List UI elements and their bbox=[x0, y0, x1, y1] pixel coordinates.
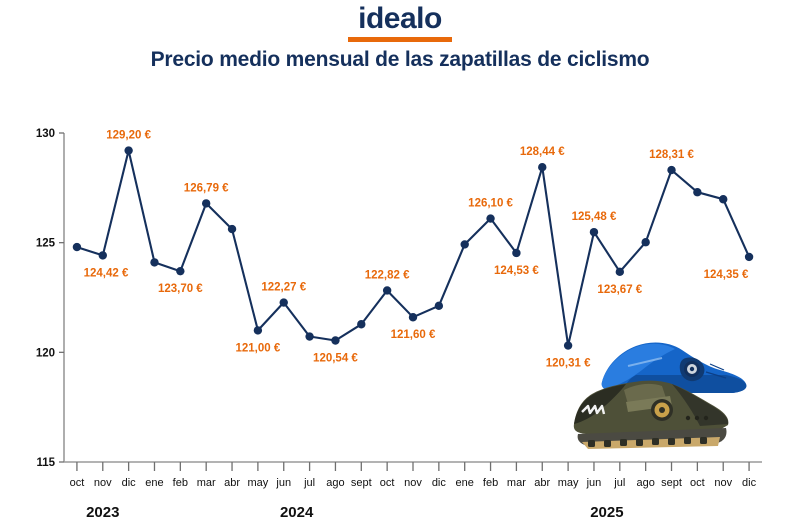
x-tick-label: dic bbox=[742, 477, 757, 489]
x-tick-label: ago bbox=[326, 477, 344, 489]
x-tick-label: jun bbox=[586, 477, 602, 489]
data-point-label: 124,53 € bbox=[494, 265, 539, 277]
data-point[interactable] bbox=[486, 214, 494, 222]
x-tick-label: ene bbox=[145, 477, 163, 489]
data-point-label: 121,60 € bbox=[391, 329, 436, 341]
x-tick-label: nov bbox=[404, 477, 422, 489]
x-tick-label: dic bbox=[432, 477, 447, 489]
data-point[interactable] bbox=[745, 253, 753, 261]
x-tick-label: sept bbox=[661, 477, 682, 489]
x-tick-label: abr bbox=[534, 477, 550, 489]
data-point-label: 128,31 € bbox=[649, 149, 694, 161]
x-tick-label: oct bbox=[690, 477, 705, 489]
data-point[interactable] bbox=[461, 240, 469, 248]
data-labels: 124,42 €129,20 €123,70 €126,79 €121,00 €… bbox=[84, 130, 749, 370]
x-tick-label: ago bbox=[636, 477, 654, 489]
data-point[interactable] bbox=[512, 249, 520, 257]
y-tick-label: 130 bbox=[36, 128, 55, 140]
data-point[interactable] bbox=[357, 320, 365, 328]
data-point[interactable] bbox=[305, 332, 313, 340]
data-point-label: 120,54 € bbox=[313, 352, 358, 364]
x-tick-label: abr bbox=[224, 477, 240, 489]
data-point-label: 123,67 € bbox=[597, 284, 642, 296]
data-point[interactable] bbox=[538, 163, 546, 171]
x-tick-label: may bbox=[247, 477, 268, 489]
x-tick-label: jul bbox=[303, 477, 315, 489]
data-point[interactable] bbox=[73, 243, 81, 251]
data-point-label: 124,35 € bbox=[704, 269, 749, 281]
data-point[interactable] bbox=[202, 199, 210, 207]
x-tick-label: oct bbox=[70, 477, 85, 489]
x-tick-label: may bbox=[558, 477, 579, 489]
data-point[interactable] bbox=[564, 341, 572, 349]
x-tick-label: feb bbox=[483, 477, 498, 489]
x-tick-label: sept bbox=[351, 477, 372, 489]
x-axis: octnovdicenefebmarabrmayjunjulagoseptoct… bbox=[64, 462, 762, 489]
data-point[interactable] bbox=[254, 326, 262, 334]
x-tick-label: feb bbox=[173, 477, 188, 489]
x-tick-label: ene bbox=[456, 477, 474, 489]
data-point-label: 125,48 € bbox=[572, 211, 617, 223]
data-point-label: 121,00 € bbox=[236, 342, 281, 354]
data-point[interactable] bbox=[719, 195, 727, 203]
data-point[interactable] bbox=[435, 302, 443, 310]
data-point-label: 129,20 € bbox=[106, 130, 151, 142]
data-point-label: 126,10 € bbox=[468, 198, 513, 210]
data-point[interactable] bbox=[99, 251, 107, 259]
year-axis-labels: 202320242025 bbox=[86, 504, 623, 521]
data-point[interactable] bbox=[150, 258, 158, 266]
year-label: 2024 bbox=[280, 504, 314, 521]
data-point-label: 128,44 € bbox=[520, 146, 565, 158]
data-point[interactable] bbox=[616, 268, 624, 276]
x-tick-label: mar bbox=[197, 477, 216, 489]
data-point[interactable] bbox=[409, 313, 417, 321]
data-point-label: 126,79 € bbox=[184, 182, 229, 194]
y-tick-label: 120 bbox=[36, 347, 55, 359]
data-point-label: 120,31 € bbox=[546, 358, 591, 370]
x-tick-label: oct bbox=[380, 477, 395, 489]
data-point[interactable] bbox=[641, 238, 649, 246]
data-point[interactable] bbox=[331, 336, 339, 344]
y-tick-label: 125 bbox=[36, 238, 56, 250]
x-tick-label: mar bbox=[507, 477, 526, 489]
data-point[interactable] bbox=[693, 188, 701, 196]
data-point-label: 123,70 € bbox=[158, 283, 203, 295]
year-label: 2025 bbox=[590, 504, 623, 521]
data-point-label: 124,42 € bbox=[84, 267, 129, 279]
data-point[interactable] bbox=[124, 146, 132, 154]
data-point-label: 122,27 € bbox=[261, 282, 306, 294]
y-tick-label: 115 bbox=[36, 457, 55, 469]
data-point[interactable] bbox=[667, 166, 675, 174]
data-point[interactable] bbox=[228, 225, 236, 233]
year-label: 2023 bbox=[86, 504, 119, 521]
chart-container: 115120125130 octnovdicenefebmarabrmayjun… bbox=[0, 0, 800, 525]
price-series bbox=[73, 146, 754, 349]
x-tick-label: jun bbox=[275, 477, 291, 489]
data-point-label: 122,82 € bbox=[365, 269, 410, 281]
line-chart: 115120125130 octnovdicenefebmarabrmayjun… bbox=[0, 0, 800, 525]
y-axis: 115120125130 bbox=[36, 128, 64, 469]
data-point[interactable] bbox=[590, 228, 598, 236]
x-tick-label: nov bbox=[94, 477, 112, 489]
data-point[interactable] bbox=[383, 286, 391, 294]
x-tick-label: dic bbox=[122, 477, 137, 489]
x-tick-label: nov bbox=[714, 477, 732, 489]
data-point[interactable] bbox=[176, 267, 184, 275]
x-tick-label: jul bbox=[613, 477, 625, 489]
data-point[interactable] bbox=[280, 298, 288, 306]
